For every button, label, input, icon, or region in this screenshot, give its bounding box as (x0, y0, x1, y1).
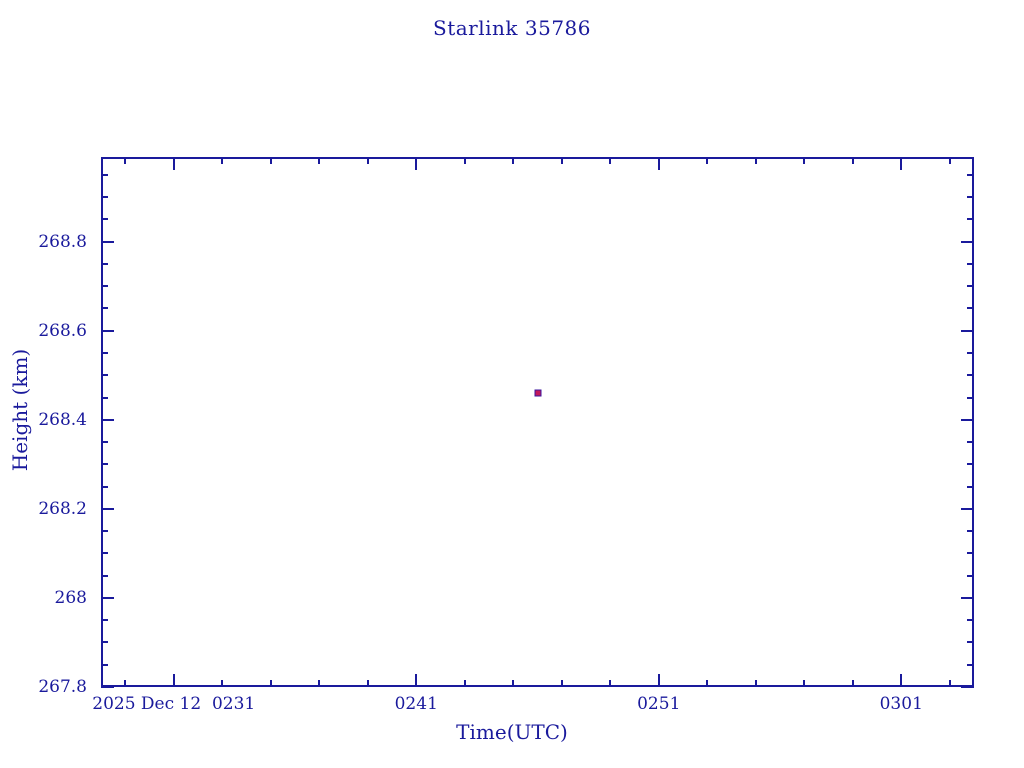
x-axis-title: Time(UTC) (0, 720, 1024, 744)
y-tick-label: 268.2 (0, 499, 87, 519)
y-tick-label: 268.8 (0, 232, 87, 252)
chart-title: Starlink 35786 (0, 16, 1024, 40)
y-axis-title: Height (km) (8, 330, 32, 490)
x-tick-label: 2025 Dec 12 0231 (92, 694, 255, 714)
x-tick-label: 0241 (395, 694, 438, 714)
data-points-layer (101, 157, 974, 687)
chart-root: Starlink 35786 268.8268.6268.4268.226826… (0, 0, 1024, 768)
y-tick-label: 268 (0, 588, 87, 608)
y-tick-label: 267.8 (0, 677, 87, 697)
data-point-marker (534, 390, 541, 397)
x-tick-label: 0301 (880, 694, 923, 714)
x-tick-label: 0251 (637, 694, 680, 714)
